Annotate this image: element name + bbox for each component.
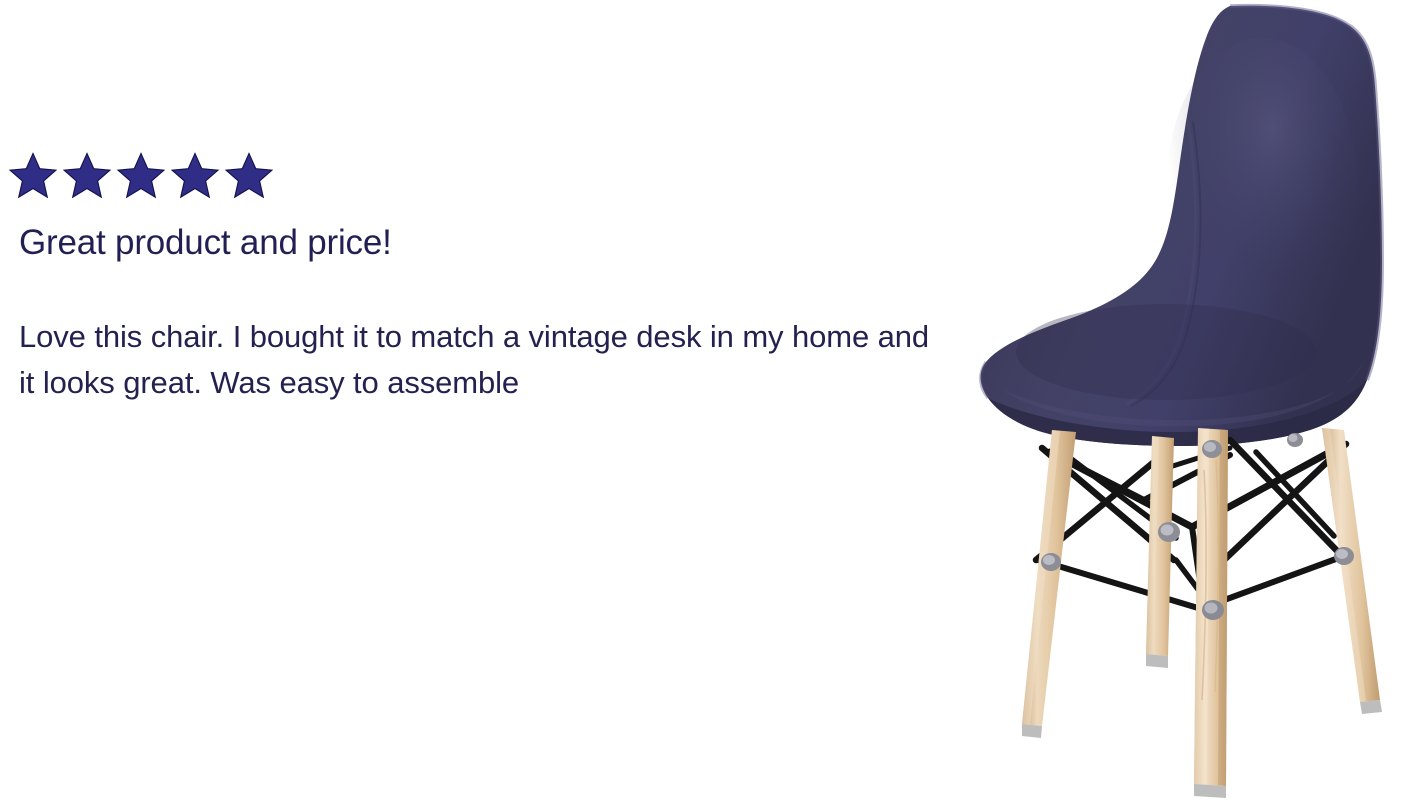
review-body-text: Love this chair. I bought it to match a … — [19, 314, 949, 406]
star-icon — [114, 150, 168, 202]
product-image — [930, 0, 1428, 804]
star-icon — [222, 150, 276, 202]
star-rating — [6, 150, 276, 202]
review-content: Great product and price! Love this chair… — [0, 0, 960, 804]
review-title: Great product and price! — [19, 222, 392, 264]
star-icon — [60, 150, 114, 202]
review-card: Great product and price! Love this chair… — [0, 0, 1428, 804]
star-icon — [168, 150, 222, 202]
star-icon — [6, 150, 60, 202]
